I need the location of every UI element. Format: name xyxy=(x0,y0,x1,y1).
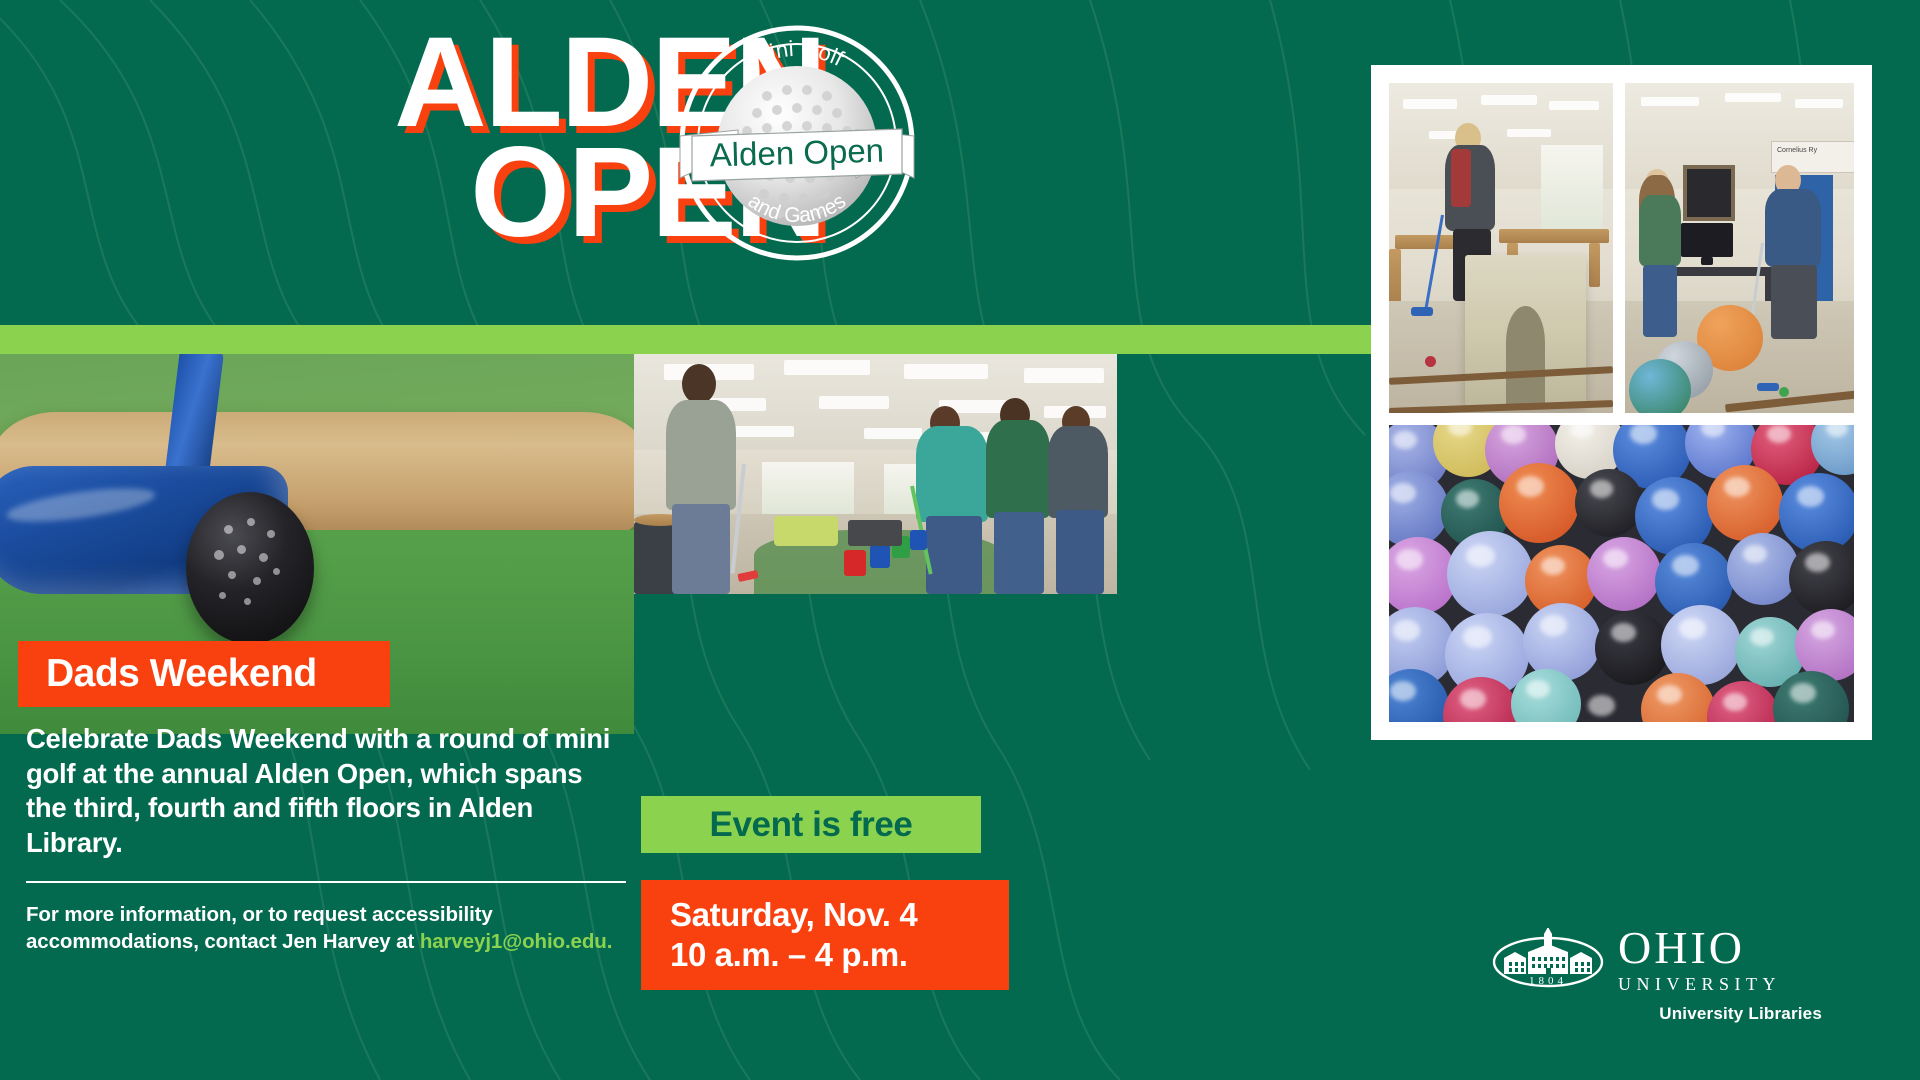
ohio-building-icon: 1804 xyxy=(1492,928,1604,990)
photo-collage-top-left xyxy=(1389,83,1613,413)
dads-weekend-label: Dads Weekend xyxy=(46,652,317,696)
poster: ALDEN OPEN xyxy=(0,0,1920,1080)
body-copy: Celebrate Dads Weekend with a round of m… xyxy=(26,722,626,955)
divider xyxy=(26,881,626,883)
wall-sign-text: Cornelius Ry xyxy=(1777,147,1817,154)
ohio-university-wordmark: UNIVERSITY xyxy=(1618,975,1781,993)
lead-paragraph: Celebrate Dads Weekend with a round of m… xyxy=(26,722,626,861)
event-time-line-2: 10 a.m. – 4 p.m. xyxy=(670,935,1009,975)
ohio-university-logo: 1804 OHIO UNIVERSITY University Librarie… xyxy=(1492,925,1822,1045)
alden-open-badge-logo: Alden Open Mini Golf and Games xyxy=(672,18,922,268)
event-free-label: Event is free xyxy=(710,805,913,845)
photo-library-minigolf xyxy=(634,354,1117,594)
photo-collage-frame: Cornelius Ry xyxy=(1371,65,1872,740)
event-free-badge: Event is free xyxy=(641,796,981,853)
ohio-founding-year: 1804 xyxy=(1529,975,1567,987)
event-date-line-1: Saturday, Nov. 4 xyxy=(670,895,1009,935)
ohio-wordmark: OHIO xyxy=(1618,925,1781,971)
photo-collage-top-right: Cornelius Ry xyxy=(1625,83,1854,413)
event-date-badge: Saturday, Nov. 4 10 a.m. – 4 p.m. xyxy=(641,880,1009,990)
accent-stripe xyxy=(0,325,1371,354)
dads-weekend-badge: Dads Weekend xyxy=(18,641,390,707)
accessibility-note: For more information, or to request acce… xyxy=(26,901,626,956)
photo-collage-golf-balls xyxy=(1389,425,1854,722)
badge-ribbon-text: Alden Open xyxy=(709,132,884,174)
contact-email-link[interactable]: harveyj1@ohio.edu. xyxy=(420,930,613,953)
university-libraries-label: University Libraries xyxy=(1492,1004,1822,1024)
